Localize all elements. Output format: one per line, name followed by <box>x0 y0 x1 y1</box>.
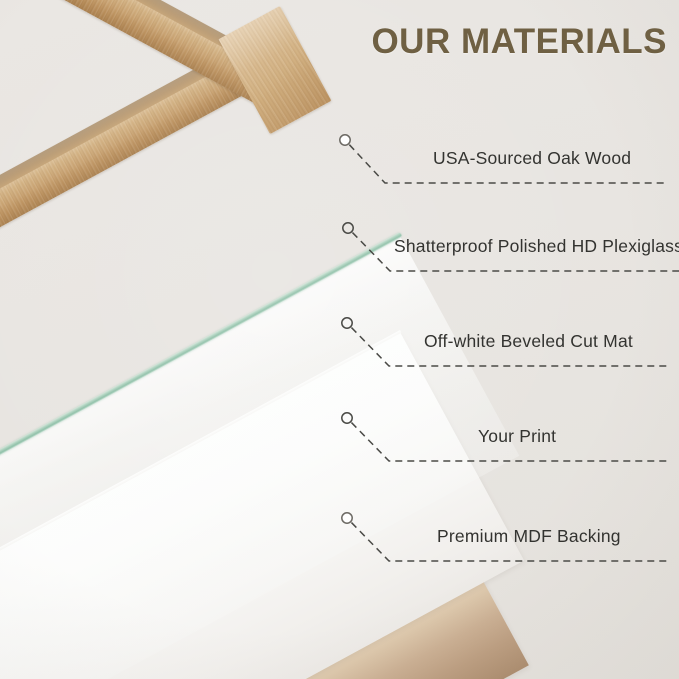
callout-label-oak-wood: USA-Sourced Oak Wood <box>433 148 631 169</box>
callout-marker-mat <box>342 318 352 328</box>
callout-label-mdf-backing: Premium MDF Backing <box>437 526 621 547</box>
callout-label-print: Your Print <box>478 426 556 447</box>
infographic-canvas: OUR MATERIALS USA-Sourced Oak Wood Shatt… <box>0 0 679 679</box>
callout-marker-mdf-backing <box>342 513 352 523</box>
callout-marker-print <box>342 413 352 423</box>
callout-label-plexiglass: Shatterproof Polished HD Plexiglass <box>394 236 679 257</box>
callout-marker-oak-wood <box>340 135 350 145</box>
page-title: OUR MATERIALS <box>371 22 667 62</box>
callout-marker-plexiglass <box>343 223 353 233</box>
callout-label-mat: Off-white Beveled Cut Mat <box>424 331 633 352</box>
